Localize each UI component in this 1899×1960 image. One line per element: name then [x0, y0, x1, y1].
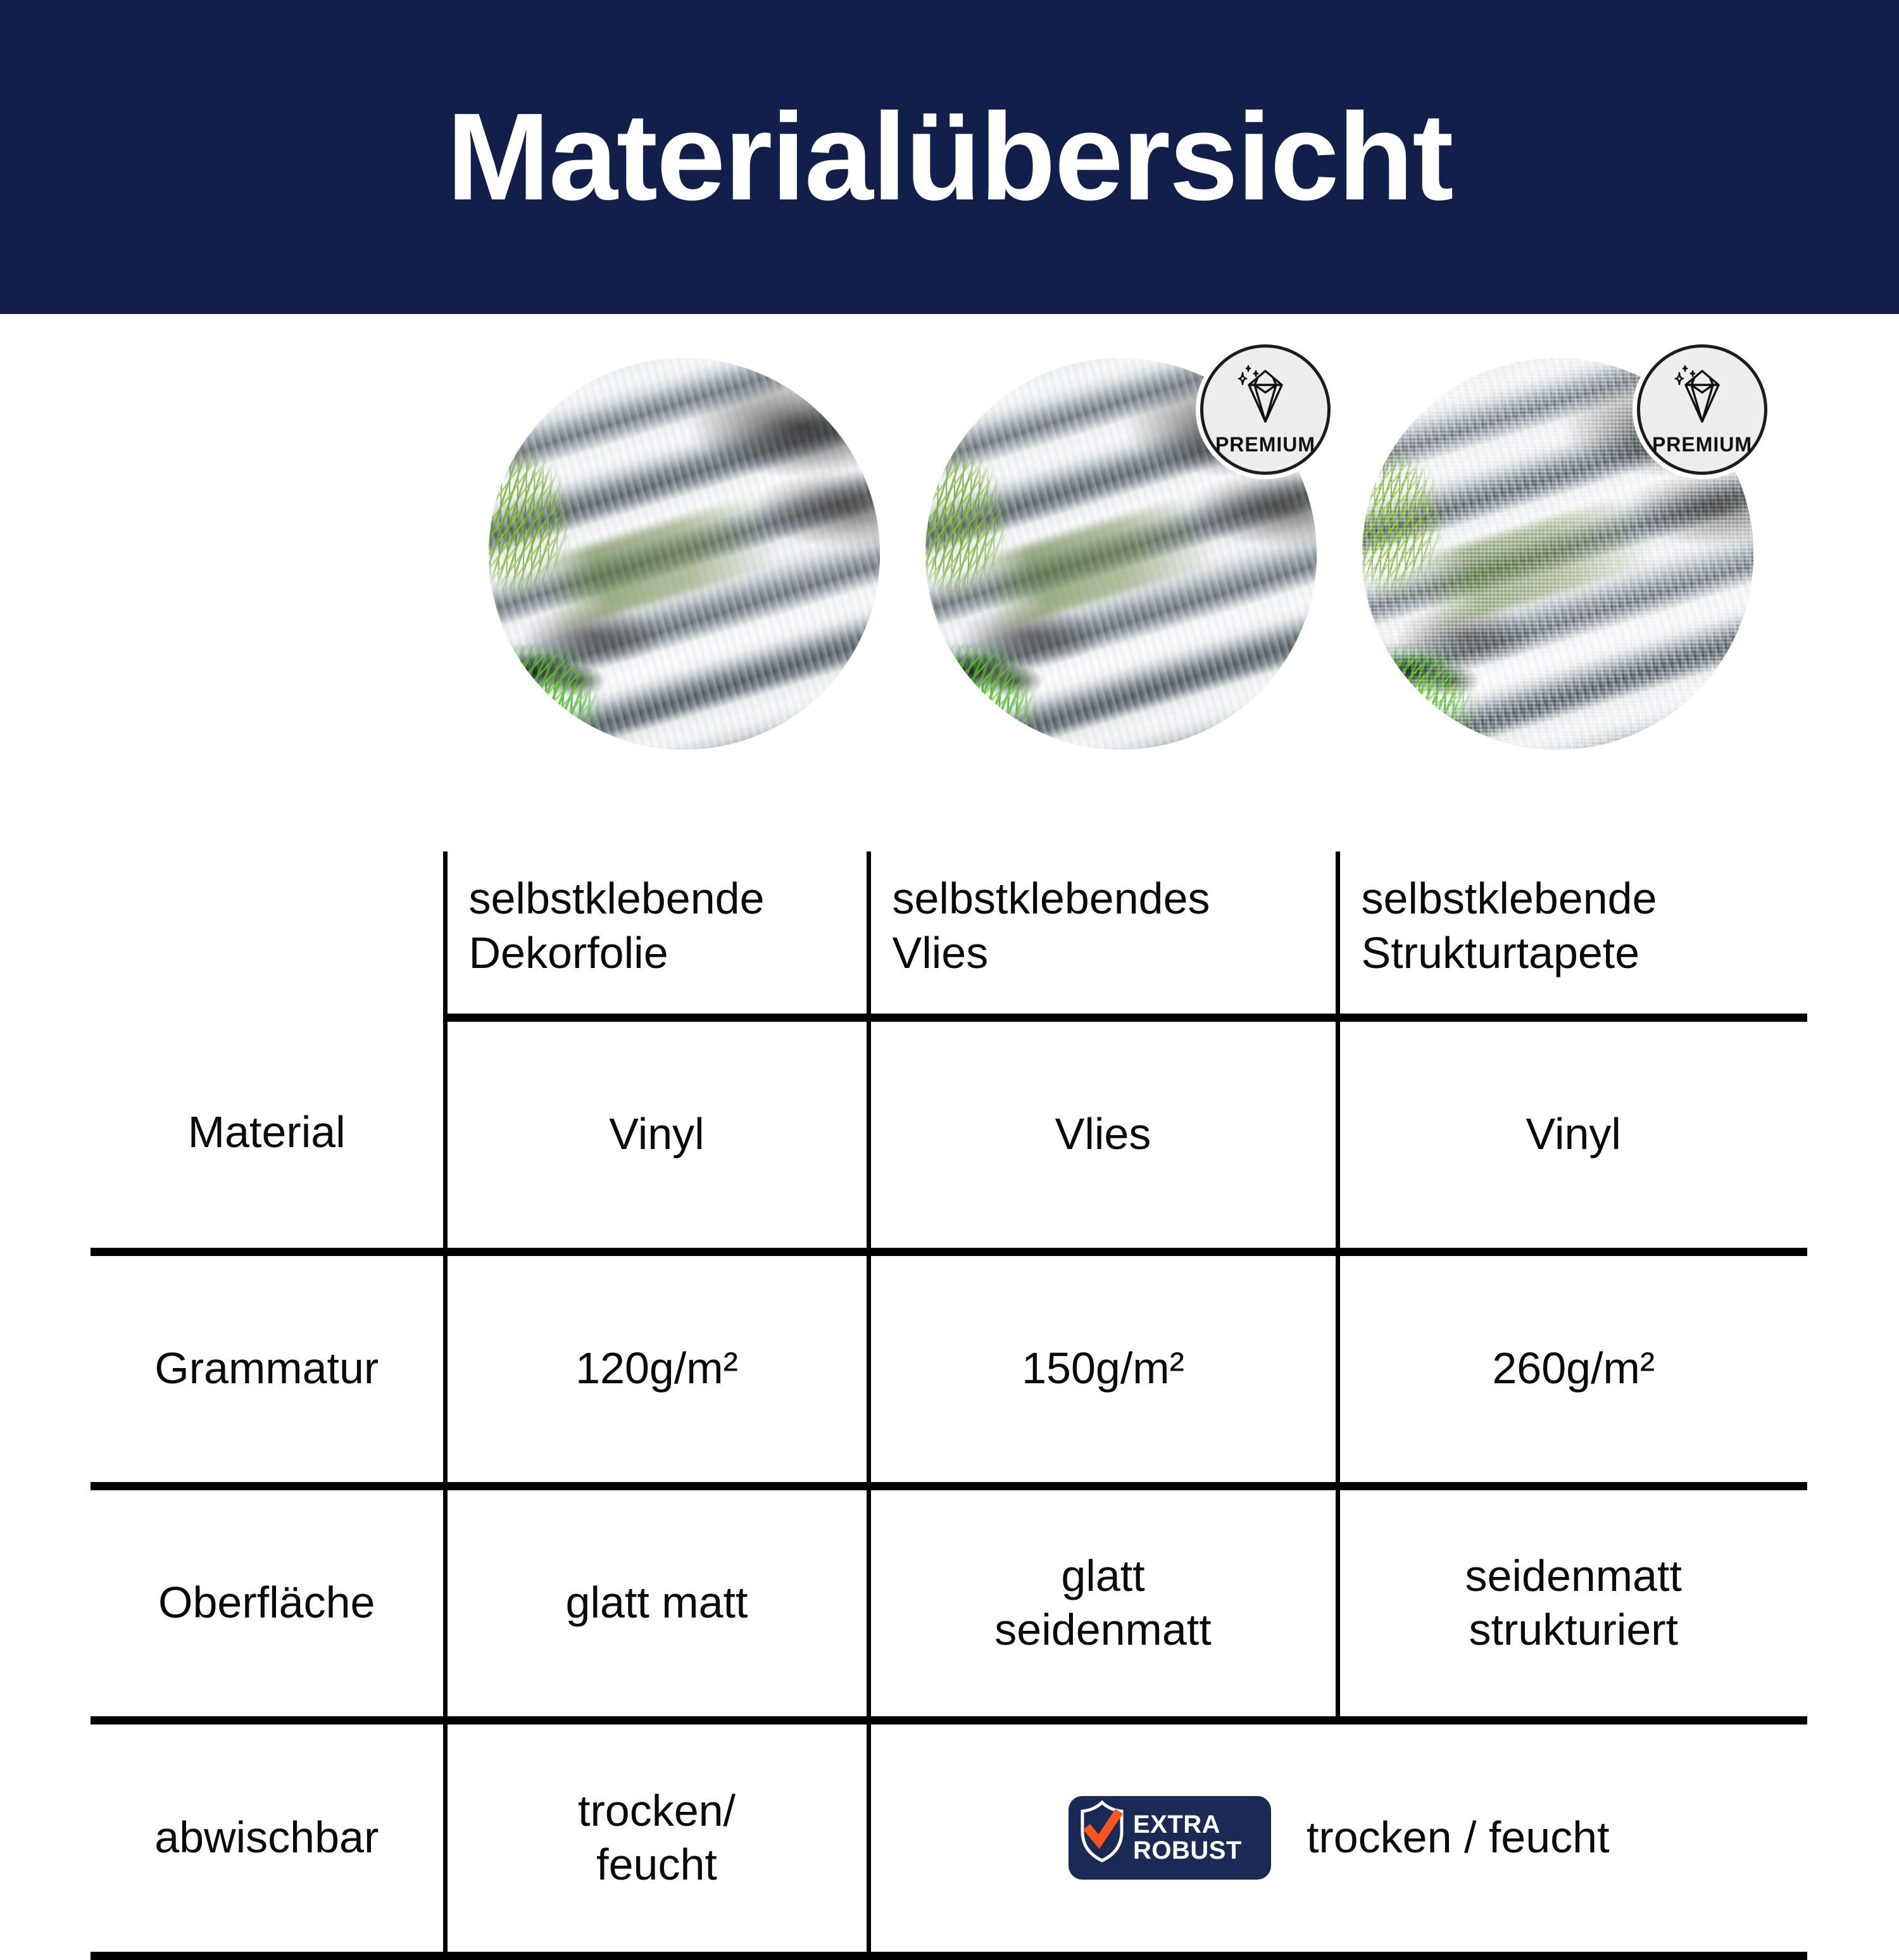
cell-abwischbar-merged: EXTRA ROBUST trocken / feucht [868, 1720, 1807, 1956]
premium-badge-strukturtapete: PREMIUM [1637, 344, 1767, 475]
column-header-line1: selbstklebende [469, 872, 855, 926]
cell-grammatur-vlies: 150g/m² [868, 1252, 1338, 1486]
shield-check-icon [1077, 1799, 1127, 1876]
sample-image-dekorfolie [489, 358, 880, 750]
row-label-oberflaeche: Oberfläche [91, 1486, 445, 1720]
extra-robust-badge: EXTRA ROBUST [1069, 1796, 1271, 1880]
cell-material-strukturtapete: Vinyl [1338, 1017, 1807, 1252]
column-header-line2: Vlies [893, 926, 1324, 980]
table-row-grammatur: Grammatur 120g/m² 150g/m² 260g/m² [91, 1252, 1807, 1486]
column-header-dekorfolie: selbstklebende Dekorfolie [445, 851, 868, 1017]
cell-line2: seidenmatt [882, 1603, 1324, 1657]
extra-robust-label: EXTRA ROBUST [1133, 1812, 1242, 1864]
table-row-material: Material Vinyl Vlies Vinyl [91, 1017, 1807, 1252]
cell-line1: seidenmatt [1351, 1549, 1796, 1603]
extra-robust-line2: ROBUST [1133, 1838, 1242, 1864]
column-header-line1: selbstklebende [1362, 872, 1796, 926]
cell-oberflaeche-vlies: glatt seidenmatt [868, 1486, 1338, 1720]
page-title: Materialübersicht [447, 95, 1453, 219]
row-label-material: Material [91, 1017, 445, 1252]
cell-grammatur-strukturtapete: 260g/m² [1338, 1252, 1807, 1486]
table-row-oberflaeche: Oberfläche glatt matt glatt seidenmatt s… [91, 1486, 1807, 1720]
cell-line2: strukturiert [1351, 1603, 1796, 1657]
premium-badge-vlies: PREMIUM [1200, 344, 1331, 475]
table-row-abwischbar: abwischbar trocken/ feucht [91, 1720, 1807, 1956]
premium-badge-label: PREMIUM [1215, 433, 1315, 456]
cell-line1: glatt [882, 1549, 1324, 1603]
sample-circle-vlies: PREMIUM [925, 358, 1317, 750]
column-header-vlies: selbstklebendes Vlies [868, 851, 1338, 1017]
page-header: Materialübersicht [0, 0, 1899, 314]
extra-robust-line1: EXTRA [1133, 1812, 1242, 1838]
column-header-strukturtapete: selbstklebende Strukturtapete [1338, 851, 1807, 1017]
column-header-line1: selbstklebendes [893, 872, 1324, 926]
cell-abwischbar-dekorfolie: trocken/ feucht [445, 1720, 868, 1956]
cell-oberflaeche-strukturtapete: seidenmatt strukturiert [1338, 1486, 1807, 1720]
column-header-line2: Strukturtapete [1362, 926, 1796, 980]
table-header-row: selbstklebende Dekorfolie selbstklebende… [91, 851, 1807, 1017]
diamond-icon [1230, 363, 1301, 429]
column-header-line2: Dekorfolie [469, 926, 855, 980]
cell-material-vlies: Vlies [868, 1017, 1338, 1252]
sample-circle-strukturtapete: PREMIUM [1362, 358, 1753, 750]
diamond-icon [1667, 363, 1738, 429]
cell-oberflaeche-dekorfolie: glatt matt [445, 1486, 868, 1720]
material-comparison-table: selbstklebende Dekorfolie selbstklebende… [91, 851, 1807, 1960]
cell-line2: feucht [459, 1838, 855, 1892]
premium-badge-label: PREMIUM [1652, 433, 1752, 456]
row-label-abwischbar: abwischbar [91, 1720, 445, 1956]
cell-material-dekorfolie: Vinyl [445, 1017, 868, 1252]
cell-line1: trocken/ [459, 1784, 855, 1838]
cell-grammatur-dekorfolie: 120g/m² [445, 1252, 868, 1486]
table-corner-cell [91, 851, 445, 1017]
sample-circle-dekorfolie [489, 358, 880, 750]
cell-abwischbar-value: trocken / feucht [1307, 1811, 1610, 1864]
row-label-grammatur: Grammatur [91, 1252, 445, 1486]
